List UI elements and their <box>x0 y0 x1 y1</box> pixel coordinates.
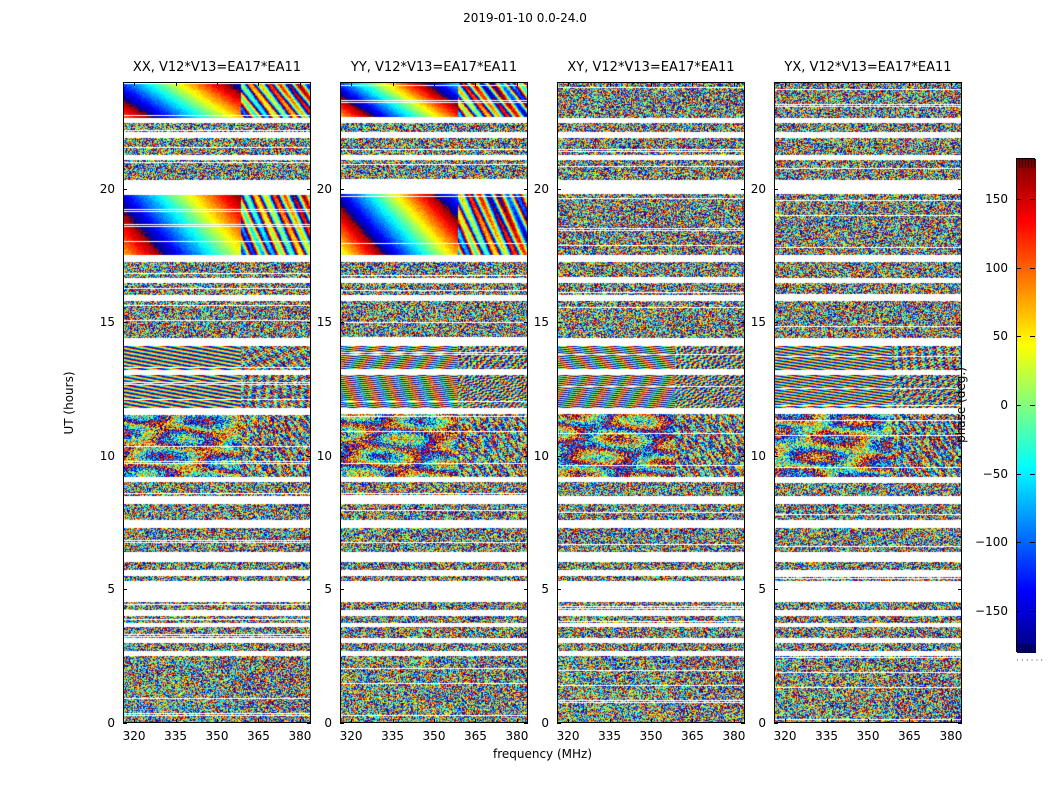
waterfall-canvas-xx <box>124 83 311 723</box>
waterfall-canvas-xy <box>558 83 745 723</box>
y-tick-label: 15 <box>751 315 766 329</box>
y-tick-mark <box>123 723 127 724</box>
y-tick-label: 15 <box>100 315 115 329</box>
y-axis-label: UT (hours) <box>62 371 76 434</box>
x-tick-mark <box>610 719 611 723</box>
y-tick-label: 10 <box>751 449 766 463</box>
plot-area-yx[interactable] <box>774 82 962 723</box>
x-tick-mark <box>475 719 476 723</box>
x-tick-mark <box>517 719 518 723</box>
panel-title-yx: YX, V12*V13=EA17*EA11 <box>774 60 962 75</box>
x-tick-mark-top <box>785 82 786 86</box>
panel-yx[interactable]: YX, V12*V13=EA17*EA113203353503653800510… <box>774 82 962 723</box>
colorbar-tick-mark <box>1016 336 1021 337</box>
x-tick-mark-top <box>951 82 952 86</box>
colorbar[interactable]: phase (deg.) ······ 150100500−50−100−150 <box>1016 158 1035 652</box>
x-tick-mark-top <box>868 82 869 86</box>
x-tick-mark-top <box>651 82 652 86</box>
x-axis-label: frequency (MHz) <box>123 747 962 761</box>
y-tick-label: 0 <box>758 716 766 730</box>
x-tick-label: 335 <box>598 729 621 743</box>
y-tick-label: 20 <box>534 182 549 196</box>
y-tick-mark-right <box>307 723 311 724</box>
colorbar-tick-mark <box>1016 405 1021 406</box>
y-tick-label: 20 <box>317 182 332 196</box>
x-tick-label: 320 <box>123 729 146 743</box>
y-tick-mark <box>557 589 561 590</box>
x-tick-mark <box>734 719 735 723</box>
x-tick-mark <box>134 719 135 723</box>
y-tick-label: 15 <box>534 315 549 329</box>
x-tick-label: 320 <box>340 729 363 743</box>
x-tick-mark-top <box>217 82 218 86</box>
x-tick-label: 335 <box>815 729 838 743</box>
x-tick-mark <box>258 719 259 723</box>
colorbar-tick-mark <box>1016 611 1021 612</box>
y-tick-mark-right <box>741 322 745 323</box>
colorbar-tick-label: 100 <box>985 261 1008 275</box>
waterfall-canvas-yy <box>341 83 528 723</box>
x-tick-label: 365 <box>464 729 487 743</box>
y-tick-label: 15 <box>317 315 332 329</box>
colorbar-tick-mark <box>1016 268 1021 269</box>
y-tick-mark-right <box>958 723 962 724</box>
x-tick-mark-top <box>176 82 177 86</box>
colorbar-tick-label: 150 <box>985 192 1008 206</box>
x-tick-label: 380 <box>505 729 528 743</box>
y-tick-label: 20 <box>100 182 115 196</box>
x-tick-mark <box>951 719 952 723</box>
y-tick-mark <box>123 322 127 323</box>
y-tick-label: 10 <box>317 449 332 463</box>
panel-yy[interactable]: YY, V12*V13=EA17*EA113203353503653800510… <box>340 82 528 723</box>
x-tick-label: 365 <box>247 729 270 743</box>
y-tick-mark <box>340 189 344 190</box>
y-tick-mark-right <box>958 189 962 190</box>
colorbar-tick-mark-right <box>1030 199 1035 200</box>
colorbar-tick-mark-right <box>1030 268 1035 269</box>
y-tick-mark <box>557 189 561 190</box>
panel-title-xy: XY, V12*V13=EA17*EA11 <box>557 60 745 75</box>
y-tick-mark <box>774 189 778 190</box>
colorbar-tick-label: −150 <box>975 604 1008 618</box>
y-tick-label: 5 <box>324 582 332 596</box>
y-tick-mark <box>123 456 127 457</box>
x-tick-mark <box>651 719 652 723</box>
colorbar-tick-mark-right <box>1030 336 1035 337</box>
y-tick-mark <box>340 723 344 724</box>
y-tick-mark-right <box>958 589 962 590</box>
colorbar-tick-label: −100 <box>975 535 1008 549</box>
x-tick-mark <box>909 719 910 723</box>
y-tick-mark-right <box>958 322 962 323</box>
panel-xx[interactable]: XX, V12*V13=EA17*EA113203353503653800510… <box>123 82 311 723</box>
y-tick-mark <box>557 322 561 323</box>
y-tick-label: 5 <box>541 582 549 596</box>
y-tick-label: 0 <box>324 716 332 730</box>
y-tick-mark-right <box>741 723 745 724</box>
y-tick-mark <box>774 322 778 323</box>
y-tick-label: 0 <box>541 716 549 730</box>
x-tick-mark <box>785 719 786 723</box>
y-tick-mark-right <box>524 589 528 590</box>
x-tick-mark <box>217 719 218 723</box>
colorbar-tick-mark-right <box>1030 474 1035 475</box>
x-tick-mark-top <box>134 82 135 86</box>
x-tick-label: 350 <box>423 729 446 743</box>
colorbar-tick-label: 50 <box>993 329 1008 343</box>
x-tick-mark-top <box>827 82 828 86</box>
y-tick-label: 10 <box>100 449 115 463</box>
colorbar-tick-mark-right <box>1030 611 1035 612</box>
x-tick-label: 335 <box>381 729 404 743</box>
y-tick-mark-right <box>524 456 528 457</box>
y-tick-mark-right <box>307 456 311 457</box>
y-tick-label: 5 <box>758 582 766 596</box>
colorbar-tick-mark-right <box>1030 405 1035 406</box>
x-tick-mark <box>827 719 828 723</box>
panel-title-yy: YY, V12*V13=EA17*EA11 <box>340 60 528 75</box>
y-tick-label: 10 <box>534 449 549 463</box>
y-tick-mark-right <box>958 456 962 457</box>
panel-xy[interactable]: XY, V12*V13=EA17*EA113203353503653800510… <box>557 82 745 723</box>
y-tick-label: 0 <box>107 716 115 730</box>
x-tick-mark-top <box>351 82 352 86</box>
plot-area-xy[interactable] <box>557 82 745 723</box>
y-tick-mark-right <box>524 322 528 323</box>
x-tick-mark <box>351 719 352 723</box>
x-tick-mark <box>393 719 394 723</box>
x-tick-label: 380 <box>939 729 962 743</box>
x-tick-mark-top <box>258 82 259 86</box>
colorbar-tick-mark-right <box>1030 542 1035 543</box>
y-tick-mark <box>123 589 127 590</box>
colorbar-tick-label: −50 <box>983 467 1008 481</box>
y-tick-mark-right <box>524 189 528 190</box>
x-tick-mark-top <box>434 82 435 86</box>
x-tick-mark-top <box>692 82 693 86</box>
colorbar-tick-label: 0 <box>1000 398 1008 412</box>
x-tick-label: 350 <box>640 729 663 743</box>
x-tick-label: 380 <box>722 729 745 743</box>
y-tick-mark <box>123 189 127 190</box>
x-tick-mark <box>434 719 435 723</box>
x-tick-mark-top <box>300 82 301 86</box>
y-tick-mark <box>774 456 778 457</box>
x-tick-mark <box>868 719 869 723</box>
figure-canvas: 2019-01-10 0.0-24.0 XX, V12*V13=EA17*EA1… <box>0 0 1050 800</box>
x-tick-mark <box>176 719 177 723</box>
plot-area-yy[interactable] <box>340 82 528 723</box>
x-tick-label: 380 <box>288 729 311 743</box>
x-tick-label: 350 <box>206 729 229 743</box>
colorbar-tick-mark <box>1016 474 1021 475</box>
y-tick-mark-right <box>307 589 311 590</box>
panel-title-xx: XX, V12*V13=EA17*EA11 <box>123 60 311 75</box>
colorbar-tick-mark <box>1016 199 1021 200</box>
y-tick-mark-right <box>524 723 528 724</box>
y-tick-mark <box>340 456 344 457</box>
colorbar-tick-mark <box>1016 542 1021 543</box>
x-tick-mark <box>692 719 693 723</box>
y-tick-label: 20 <box>751 182 766 196</box>
x-tick-mark-top <box>909 82 910 86</box>
waterfall-canvas-yx <box>775 83 962 723</box>
colorbar-canvas <box>1017 159 1036 653</box>
y-tick-mark <box>557 456 561 457</box>
figure-suptitle: 2019-01-10 0.0-24.0 <box>0 11 1050 25</box>
x-tick-label: 335 <box>164 729 187 743</box>
x-tick-mark-top <box>475 82 476 86</box>
y-tick-mark <box>340 589 344 590</box>
x-tick-label: 320 <box>557 729 580 743</box>
colorbar-label: phase (deg.) <box>954 367 968 443</box>
x-tick-mark <box>300 719 301 723</box>
y-tick-label: 5 <box>107 582 115 596</box>
plot-area-xx[interactable] <box>123 82 311 723</box>
x-tick-label: 350 <box>857 729 880 743</box>
y-tick-mark <box>340 322 344 323</box>
y-tick-mark-right <box>741 589 745 590</box>
y-tick-mark-right <box>307 322 311 323</box>
x-tick-mark-top <box>610 82 611 86</box>
x-tick-label: 320 <box>774 729 797 743</box>
y-tick-mark-right <box>741 189 745 190</box>
y-tick-mark <box>774 589 778 590</box>
colorbar-overflow-dots: ······ <box>1016 656 1035 666</box>
x-tick-label: 365 <box>898 729 921 743</box>
x-tick-label: 365 <box>681 729 704 743</box>
x-tick-mark-top <box>734 82 735 86</box>
y-tick-mark-right <box>307 189 311 190</box>
y-tick-mark <box>774 723 778 724</box>
x-tick-mark-top <box>568 82 569 86</box>
x-tick-mark-top <box>517 82 518 86</box>
y-tick-mark-right <box>741 456 745 457</box>
x-tick-mark-top <box>393 82 394 86</box>
x-tick-mark <box>568 719 569 723</box>
y-tick-mark <box>557 723 561 724</box>
